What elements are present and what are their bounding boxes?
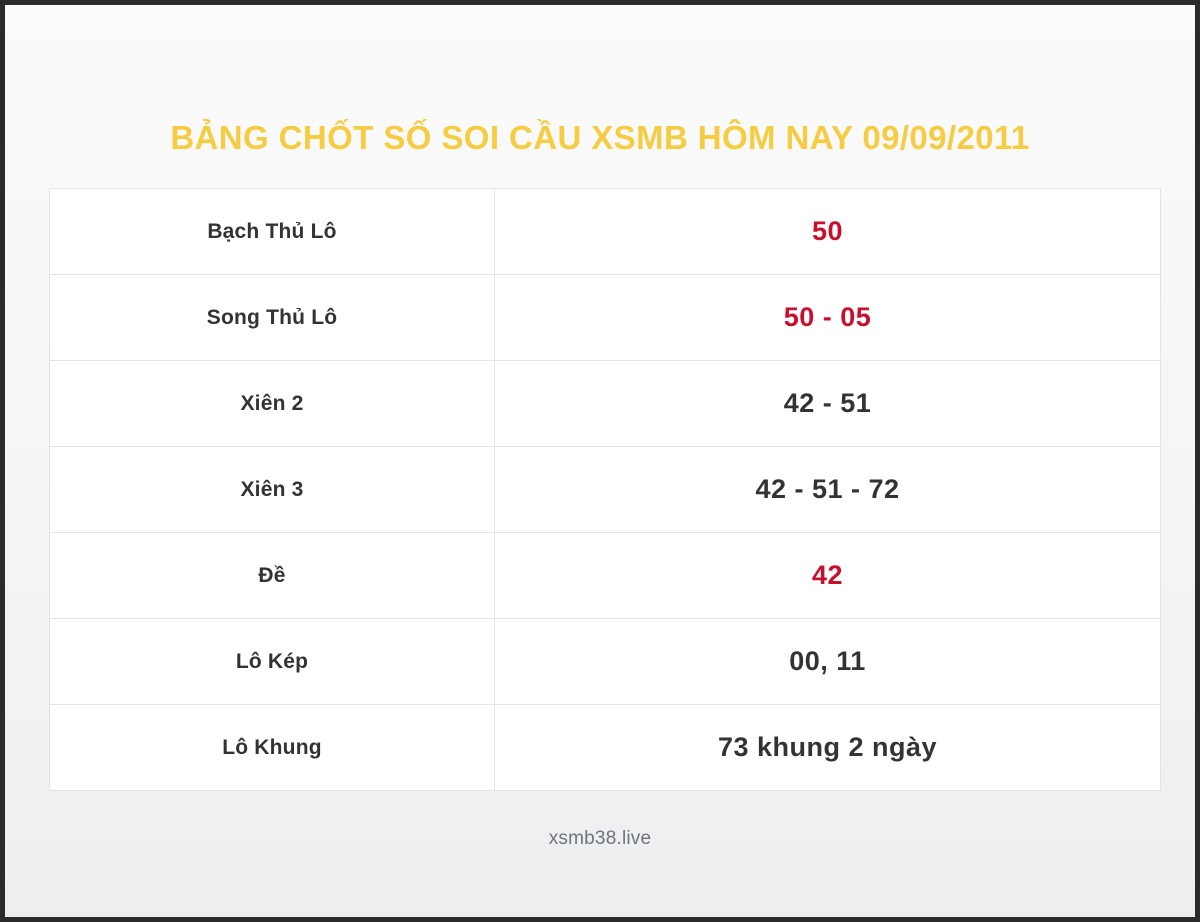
table-row: Xiên 242 - 51 [50, 361, 1161, 447]
prediction-type-label: Song Thủ Lô [50, 275, 495, 361]
prediction-value: 50 - 05 [495, 275, 1161, 361]
prediction-type-label: Đề [50, 533, 495, 619]
prediction-value: 00, 11 [495, 619, 1161, 705]
table-row: Bạch Thủ Lô50 [50, 189, 1161, 275]
prediction-type-label: Xiên 3 [50, 447, 495, 533]
prediction-table: Bạch Thủ Lô50Song Thủ Lô50 - 05Xiên 242 … [49, 188, 1161, 791]
title-container: BẢNG CHỐT SỐ SOI CẦU XSMB HÔM NAY 09/09/… [5, 97, 1195, 179]
prediction-table-container: Bạch Thủ Lô50Song Thủ Lô50 - 05Xiên 242 … [49, 188, 1161, 791]
prediction-value: 42 [495, 533, 1161, 619]
table-row: Song Thủ Lô50 - 05 [50, 275, 1161, 361]
prediction-table-body: Bạch Thủ Lô50Song Thủ Lô50 - 05Xiên 242 … [50, 189, 1161, 791]
prediction-type-label: Bạch Thủ Lô [50, 189, 495, 275]
table-row: Lô Kép00, 11 [50, 619, 1161, 705]
prediction-value: 50 [495, 189, 1161, 275]
prediction-type-label: Lô Khung [50, 705, 495, 791]
footer-container: xsmb38.live [5, 828, 1195, 850]
prediction-value: 42 - 51 [495, 361, 1161, 447]
page-title: BẢNG CHỐT SỐ SOI CẦU XSMB HÔM NAY 09/09/… [170, 119, 1029, 157]
prediction-type-label: Lô Kép [50, 619, 495, 705]
table-row: Xiên 342 - 51 - 72 [50, 447, 1161, 533]
prediction-value: 73 khung 2 ngày [495, 705, 1161, 791]
prediction-type-label: Xiên 2 [50, 361, 495, 447]
site-watermark: xsmb38.live [549, 828, 652, 850]
table-row: Đề42 [50, 533, 1161, 619]
table-row: Lô Khung73 khung 2 ngày [50, 705, 1161, 791]
lottery-prediction-card: BẢNG CHỐT SỐ SOI CẦU XSMB HÔM NAY 09/09/… [0, 0, 1200, 922]
prediction-value: 42 - 51 - 72 [495, 447, 1161, 533]
